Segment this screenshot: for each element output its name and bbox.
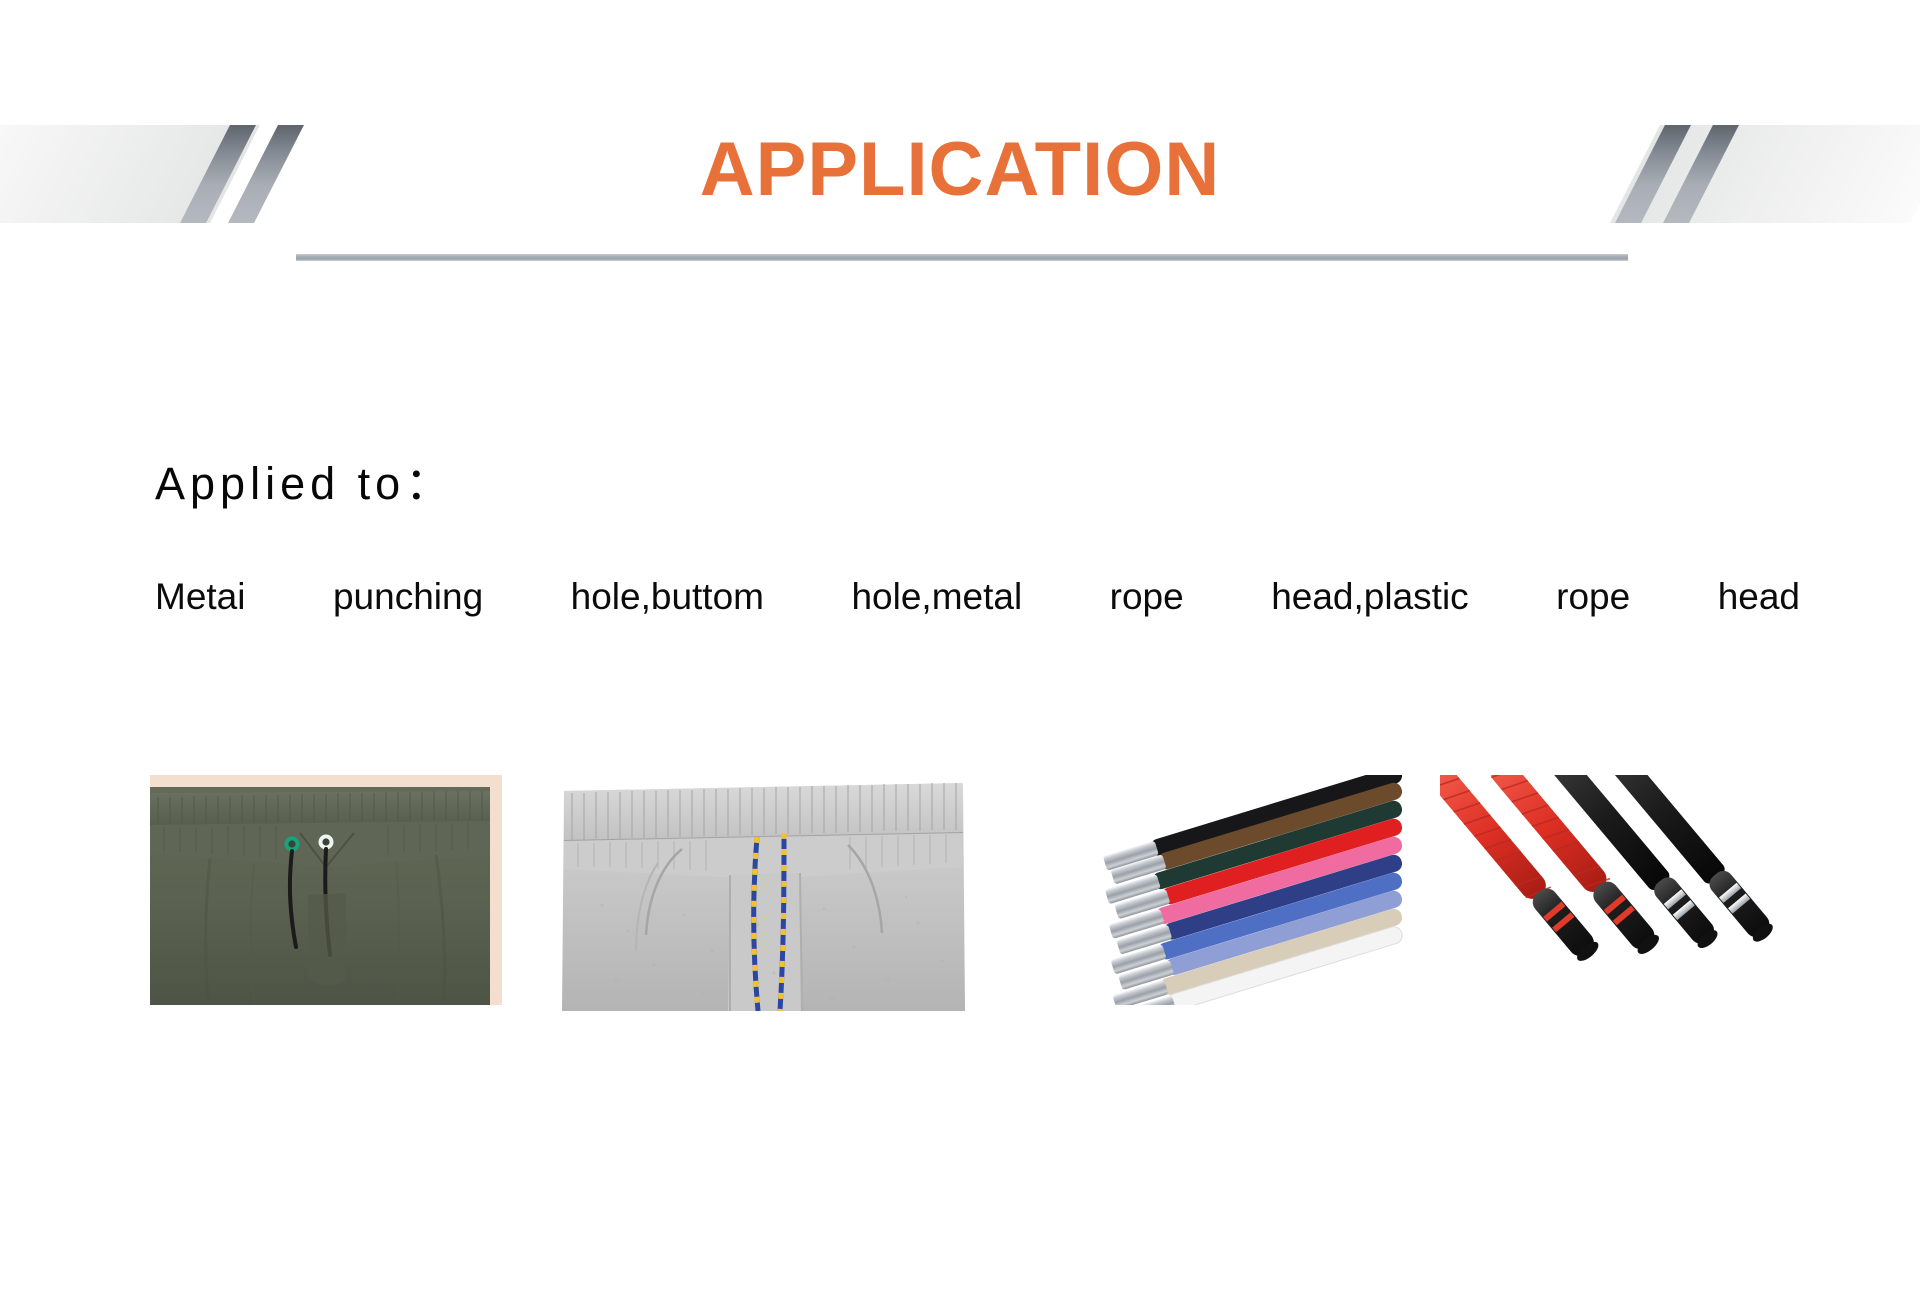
header-banner: APPLICATION [0,0,1920,300]
applied-to-heading: Applied to： [155,447,455,512]
gallery-image-gray-sweatpants [562,775,965,1011]
gallery-image-olive-jogger-pants [150,775,502,1005]
content-area: Applied to： Metai punching hole,buttom h… [0,300,1920,1297]
applied-to-paragraph: Metai punching hole,buttom hole,metal ro… [155,567,1800,685]
page-title: APPLICATION [0,118,1920,222]
title-divider [296,254,1628,261]
product-image-gallery [0,775,1920,1075]
gallery-image-plastic-rope-heads [1440,775,1808,987]
gallery-image-colored-cords-metal-aglets [1030,775,1410,1005]
